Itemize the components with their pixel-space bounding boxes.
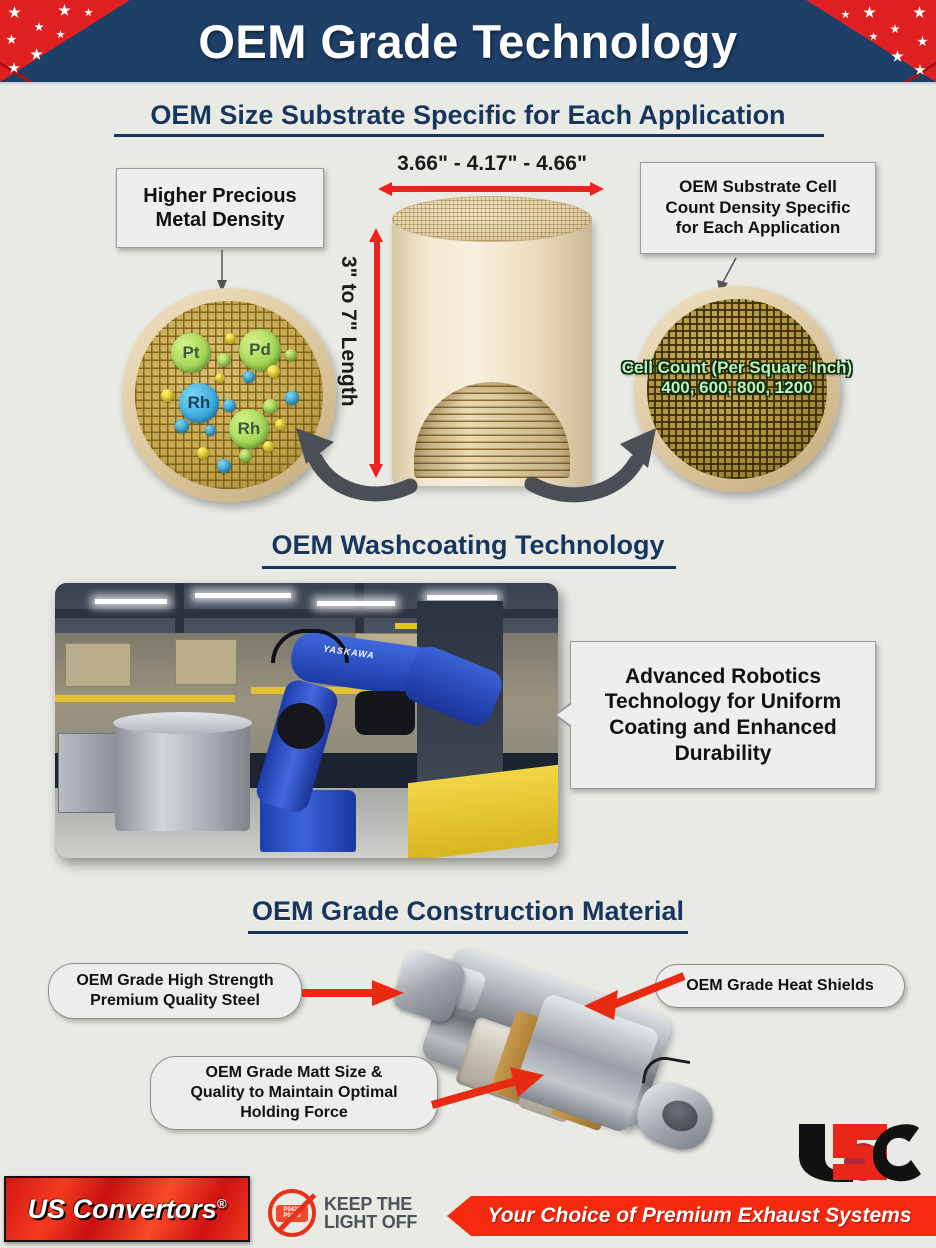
tagline-text: Your Choice of Premium Exhaust Systems xyxy=(471,1204,911,1228)
pallet xyxy=(65,643,131,687)
cell-count-values: 400, 600, 800, 1200 xyxy=(600,378,874,397)
coating-tank-lid xyxy=(113,712,252,734)
no-dtc-icon: P0420 P0430 xyxy=(268,1189,316,1237)
tagline-banner: Your Choice of Premium Exhaust Systems xyxy=(447,1196,936,1236)
precious-metal-dot xyxy=(263,441,274,452)
robot-elbow-joint xyxy=(277,703,325,749)
precious-metal-pt: Pt xyxy=(171,333,211,373)
callout-line: OEM Grade High Strength xyxy=(76,971,273,991)
callout-matt-holding-force: OEM Grade Matt Size & Quality to Maintai… xyxy=(150,1056,438,1130)
callout-heat-shields: OEM Grade Heat Shields xyxy=(655,964,905,1008)
precious-metal-dot xyxy=(161,389,174,402)
section-title-construction: OEM Grade Construction Material xyxy=(0,896,936,927)
coating-tank xyxy=(115,723,250,831)
dimension-width-arrow xyxy=(378,182,604,194)
precious-metal-dot xyxy=(205,425,216,436)
callout-line: OEM Grade Matt Size & xyxy=(206,1063,383,1083)
callout-line: Durability xyxy=(675,741,772,767)
section-title-underline xyxy=(114,134,824,137)
section-title-substrate: OEM Size Substrate Specific for Each App… xyxy=(0,100,936,131)
red-arrow-to-heat-shield xyxy=(580,972,690,1022)
callout-line: for Each Application xyxy=(676,218,841,239)
callout-line: Metal Density xyxy=(156,208,285,232)
header-divider xyxy=(0,82,936,85)
keep-the-light-off-badge: P0420 P0430 KEEP THE LIGHT OFF xyxy=(268,1185,443,1241)
curved-arrow-left xyxy=(282,398,422,508)
registered-mark: ® xyxy=(217,1196,227,1211)
callout-advanced-robotics: Advanced Robotics Technology for Uniform… xyxy=(570,641,876,789)
callout-line: OEM Grade Heat Shields xyxy=(686,976,874,996)
precious-metal-dot xyxy=(285,349,297,361)
robot-wrist xyxy=(355,691,415,735)
precious-metal-dot xyxy=(267,365,280,378)
precious-metal-dot xyxy=(215,373,225,383)
red-arrow-to-mat xyxy=(430,1065,560,1111)
precious-metal-dot xyxy=(217,459,231,473)
ceiling-lamp xyxy=(427,595,497,600)
keep-line-2: LIGHT OFF xyxy=(324,1213,417,1231)
control-cabinet xyxy=(58,733,116,813)
brand-text: US Convertors xyxy=(28,1194,217,1224)
section-title-washcoating: OEM Washcoating Technology xyxy=(0,530,936,561)
section-title-underline xyxy=(262,566,676,569)
page-header: OEM Grade Technology xyxy=(0,0,936,82)
precious-metal-dot xyxy=(217,353,231,367)
keep-light-off-text: KEEP THE LIGHT OFF xyxy=(324,1195,417,1232)
callout-line: Premium Quality Steel xyxy=(90,991,260,1011)
cylinder-honeycomb-top xyxy=(392,196,592,242)
callout-line: OEM Substrate Cell xyxy=(679,177,837,198)
brand-name: US Convertors® xyxy=(28,1194,227,1225)
callout-line: Advanced Robotics xyxy=(625,664,821,690)
arrow-bar xyxy=(388,186,594,192)
arrow-tip-right xyxy=(590,182,604,196)
precious-metal-dot xyxy=(175,419,189,433)
red-arrow-to-steel xyxy=(300,978,410,1008)
ceiling-lamp xyxy=(95,599,167,604)
keep-line-1: KEEP THE xyxy=(324,1195,417,1213)
precious-metal-dot xyxy=(225,333,236,344)
ceiling-lamp xyxy=(195,593,291,598)
safety-rail xyxy=(55,695,235,702)
ceiling-lamp xyxy=(317,601,395,606)
precious-metal-dot xyxy=(197,447,209,459)
callout-line: Count Density Specific xyxy=(665,198,850,219)
precious-metal-dot xyxy=(223,399,236,412)
section-title-underline xyxy=(248,931,688,934)
callout-line: Coating and Enhanced xyxy=(609,715,837,741)
page-title: OEM Grade Technology xyxy=(0,0,936,82)
precious-metal-dot xyxy=(263,399,278,414)
callout-line: Quality to Maintain Optimal xyxy=(190,1083,397,1103)
precious-metal-dot xyxy=(243,371,255,383)
curved-arrow-right xyxy=(522,398,672,508)
callout-line: Holding Force xyxy=(240,1103,348,1123)
callout-precious-metal-density: Higher Precious Metal Density xyxy=(116,168,324,248)
precious-metal-dot xyxy=(239,449,252,462)
callout-line: Higher Precious xyxy=(143,184,296,208)
callout-premium-steel: OEM Grade High Strength Premium Quality … xyxy=(48,963,302,1019)
callout-line: Technology for Uniform xyxy=(605,689,841,715)
washcoating-robot-photo: YASKAWA xyxy=(55,583,558,858)
precious-metal-rh-blue: Rh xyxy=(179,383,219,423)
usc-logo xyxy=(795,1122,925,1184)
dimension-width-label: 3.66" - 4.17" - 4.66" xyxy=(362,152,622,176)
us-convertors-logo: US Convertors® xyxy=(4,1176,250,1242)
pallet xyxy=(175,639,237,685)
cell-count-label: Cell Count (Per Square Inch) xyxy=(600,358,874,377)
